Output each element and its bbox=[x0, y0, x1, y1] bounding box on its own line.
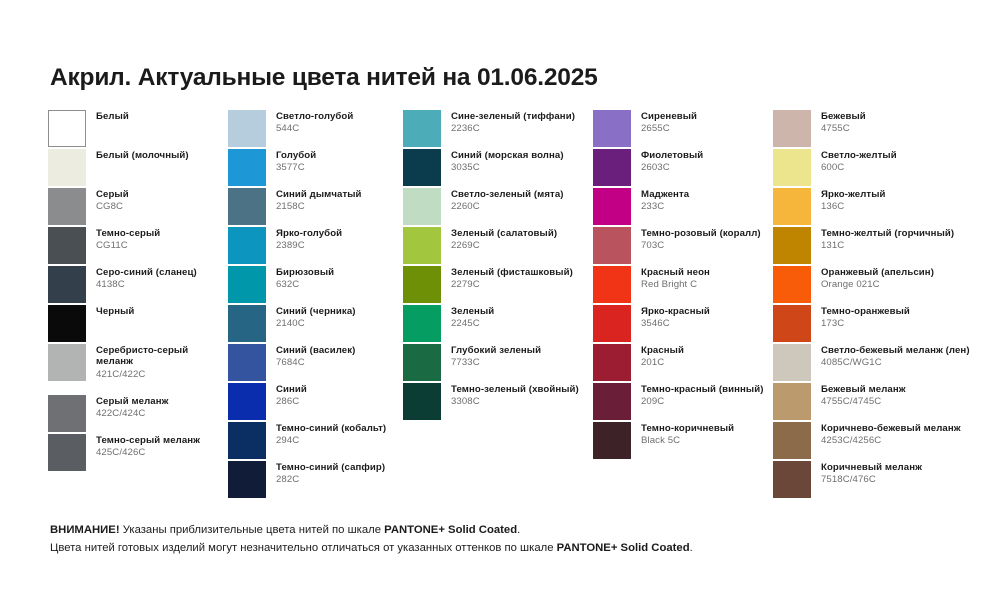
swatch-labels: Бирюзовый 632C bbox=[276, 266, 334, 291]
color-code: 544C bbox=[276, 123, 353, 134]
color-name: Синий bbox=[276, 384, 307, 395]
swatch-row[interactable]: Глубокий зеленый 7733C bbox=[403, 344, 593, 383]
color-code: 2236C bbox=[451, 123, 575, 134]
color-code: 131C bbox=[821, 240, 954, 251]
color-chip bbox=[593, 227, 631, 264]
disclaimer-line-1: ВНИМАНИЕ! Указаны приблизительные цвета … bbox=[50, 521, 970, 539]
color-name: Сиреневый bbox=[641, 111, 697, 122]
color-chip bbox=[593, 305, 631, 342]
swatch-row[interactable]: Темно-синий (сапфир) 282C bbox=[228, 461, 403, 500]
color-chip bbox=[48, 344, 86, 381]
color-name: Бирюзовый bbox=[276, 267, 334, 278]
color-name: Сине-зеленый (тиффани) bbox=[451, 111, 575, 122]
color-name: Ярко-красный bbox=[641, 306, 710, 317]
color-code: 2245C bbox=[451, 318, 494, 329]
color-chip bbox=[773, 227, 811, 264]
color-name: Темно-синий (сапфир) bbox=[276, 462, 385, 473]
disclaimer-period-2: . bbox=[690, 542, 693, 554]
color-chip bbox=[228, 149, 266, 186]
color-name: Темно-зеленый (хвойный) bbox=[451, 384, 579, 395]
color-name: Черный bbox=[96, 306, 134, 317]
color-chip bbox=[48, 227, 86, 264]
swatch-row[interactable]: Синий (василек) 7684C bbox=[228, 344, 403, 383]
swatch-labels: Синий дымчатый 2158C bbox=[276, 188, 362, 213]
color-code: 4085C/WG1C bbox=[821, 357, 970, 368]
swatch-row[interactable]: Бирюзовый 632C bbox=[228, 266, 403, 305]
color-code: 201C bbox=[641, 357, 684, 368]
disclaimer-text-1: Указаны приблизительные цвета нитей по ш… bbox=[120, 524, 385, 536]
color-code: 7684C bbox=[276, 357, 355, 368]
swatch-row[interactable]: Сине-зеленый (тиффани) 2236C bbox=[403, 110, 593, 149]
swatch-row[interactable]: Темно-серый меланж 425C/426C bbox=[48, 434, 228, 473]
color-chip bbox=[773, 461, 811, 498]
swatch-row[interactable]: Темно-зеленый (хвойный) 3308C bbox=[403, 383, 593, 422]
color-chip bbox=[773, 266, 811, 303]
color-name: Светло-голубой bbox=[276, 111, 353, 122]
color-chip bbox=[228, 344, 266, 381]
swatch-labels: Бежевый 4755C bbox=[821, 110, 866, 135]
swatch-labels: Темно-серый CG11C bbox=[96, 227, 160, 252]
color-code: 3035C bbox=[451, 162, 564, 173]
swatch-labels: Красный неон Red Bright C bbox=[641, 266, 710, 291]
swatch-row[interactable]: Бежевый 4755C bbox=[773, 110, 973, 149]
swatch-row[interactable]: Оранжевый (апельсин) Orange 021C bbox=[773, 266, 973, 305]
swatch-labels: Фиолетовый 2603C bbox=[641, 149, 703, 174]
swatch-column-greens: Сине-зеленый (тиффани) 2236C Синий (морс… bbox=[403, 110, 593, 500]
color-name: Ярко-голубой bbox=[276, 228, 342, 239]
color-name: Серый меланж bbox=[96, 396, 169, 407]
color-name: Темно-желтый (горчичный) bbox=[821, 228, 954, 239]
color-name: Глубокий зеленый bbox=[451, 345, 541, 356]
swatch-row[interactable]: Серебристо-серый меланж 421C/422C bbox=[48, 344, 228, 395]
color-chip bbox=[48, 395, 86, 432]
swatch-row[interactable]: Серый CG8C bbox=[48, 188, 228, 227]
swatch-row[interactable]: Коричнево-бежевый меланж 4253C/4256C bbox=[773, 422, 973, 461]
swatch-labels: Сиреневый 2655C bbox=[641, 110, 697, 135]
color-name: Красный неон bbox=[641, 267, 710, 278]
swatch-labels: Серый меланж 422C/424C bbox=[96, 395, 169, 420]
color-chip bbox=[228, 110, 266, 147]
color-code: 3308C bbox=[451, 396, 579, 407]
attention-label: ВНИМАНИЕ! bbox=[50, 524, 120, 536]
color-name: Ярко-желтый bbox=[821, 189, 885, 200]
swatch-labels: Темно-зеленый (хвойный) 3308C bbox=[451, 383, 579, 408]
swatch-labels: Оранжевый (апельсин) Orange 021C bbox=[821, 266, 934, 291]
disclaimer-period-1: . bbox=[517, 524, 520, 536]
swatch-row[interactable]: Синий (черника) 2140C bbox=[228, 305, 403, 344]
swatch-row[interactable]: Синий (морская волна) 3035C bbox=[403, 149, 593, 188]
color-name: Синий (морская волна) bbox=[451, 150, 564, 161]
swatch-row[interactable]: Темно-красный (винный) 209C bbox=[593, 383, 773, 422]
color-chip bbox=[228, 461, 266, 498]
swatch-row[interactable]: Маджента 233C bbox=[593, 188, 773, 227]
swatch-row[interactable]: Красный неон Red Bright C bbox=[593, 266, 773, 305]
color-chip bbox=[773, 188, 811, 225]
color-chip bbox=[593, 149, 631, 186]
color-code: 4138C bbox=[96, 279, 197, 290]
disclaimer-footer: ВНИМАНИЕ! Указаны приблизительные цвета … bbox=[50, 521, 970, 558]
color-name: Белый bbox=[96, 111, 129, 122]
swatch-labels: Серый CG8C bbox=[96, 188, 129, 213]
color-chip bbox=[48, 305, 86, 342]
swatch-labels: Коричнево-бежевый меланж 4253C/4256C bbox=[821, 422, 961, 447]
swatch-row[interactable]: Темно-синий (кобальт) 294C bbox=[228, 422, 403, 461]
swatch-labels: Серо-синий (сланец) 4138C bbox=[96, 266, 197, 291]
color-chip bbox=[228, 266, 266, 303]
swatch-labels: Темно-розовый (коралл) 703C bbox=[641, 227, 761, 252]
color-name: Темно-оранжевый bbox=[821, 306, 910, 317]
color-name: Бежевый bbox=[821, 111, 866, 122]
color-chip bbox=[403, 188, 441, 225]
color-code: 2158C bbox=[276, 201, 362, 212]
swatch-labels: Бежевый меланж 4755C/4745C bbox=[821, 383, 906, 408]
color-code: 209C bbox=[641, 396, 764, 407]
swatch-columns: Белый Белый (молочный) Серый CG8C bbox=[0, 110, 1000, 500]
swatch-labels: Серебристо-серый меланж 421C/422C bbox=[96, 344, 188, 380]
color-name: Синий (василек) bbox=[276, 345, 355, 356]
swatch-row[interactable]: Бежевый меланж 4755C/4745C bbox=[773, 383, 973, 422]
swatch-row[interactable]: Темно-желтый (горчичный) 131C bbox=[773, 227, 973, 266]
color-chart-page: Акрил. Актуальные цвета нитей на 01.06.2… bbox=[0, 0, 1000, 609]
color-name: Зеленый (салатовый) bbox=[451, 228, 557, 239]
swatch-column-warm-neutrals: Бежевый 4755C Светло-желтый 600C Ярко-же… bbox=[773, 110, 973, 500]
swatch-labels: Светло-желтый 600C bbox=[821, 149, 897, 174]
disclaimer-text-2: Цвета нитей готовых изделий могут незнач… bbox=[50, 542, 557, 554]
color-chip bbox=[48, 188, 86, 225]
swatch-row[interactable]: Сиреневый 2655C bbox=[593, 110, 773, 149]
swatch-row[interactable]: Зеленый 2245C bbox=[403, 305, 593, 344]
color-name: Серый bbox=[96, 189, 129, 200]
pantone-brand: PANTONE+ Solid Coated bbox=[384, 524, 517, 536]
color-name: Красный bbox=[641, 345, 684, 356]
color-code: 7733C bbox=[451, 357, 541, 368]
swatch-row[interactable]: Красный 201C bbox=[593, 344, 773, 383]
swatch-labels: Светло-зеленый (мята) 2260C bbox=[451, 188, 564, 213]
color-code: CG11C bbox=[96, 240, 160, 251]
swatch-labels: Глубокий зеленый 7733C bbox=[451, 344, 541, 369]
swatch-column-neutrals: Белый Белый (молочный) Серый CG8C bbox=[48, 110, 228, 500]
color-code: 2389C bbox=[276, 240, 342, 251]
color-name: Синий (черника) bbox=[276, 306, 356, 317]
color-name: Голубой bbox=[276, 150, 316, 161]
color-code: 136C bbox=[821, 201, 885, 212]
color-chip bbox=[48, 110, 86, 147]
color-code: 703C bbox=[641, 240, 761, 251]
swatch-labels: Синий 286C bbox=[276, 383, 307, 408]
color-chip bbox=[773, 383, 811, 420]
swatch-labels: Черный bbox=[96, 305, 134, 317]
swatch-row[interactable]: Светло-зеленый (мята) 2260C bbox=[403, 188, 593, 227]
color-code: Black 5C bbox=[641, 435, 734, 446]
color-code: 4755C/4745C bbox=[821, 396, 906, 407]
color-code: 4253C/4256C bbox=[821, 435, 961, 446]
swatch-row[interactable]: Синий дымчатый 2158C bbox=[228, 188, 403, 227]
color-name: Светло-зеленый (мята) bbox=[451, 189, 564, 200]
color-chip bbox=[403, 149, 441, 186]
swatch-labels: Белый (молочный) bbox=[96, 149, 189, 161]
color-chip bbox=[403, 344, 441, 381]
page-title: Акрил. Актуальные цвета нитей на 01.06.2… bbox=[50, 64, 598, 92]
pantone-brand: PANTONE+ Solid Coated bbox=[557, 542, 690, 554]
swatch-row[interactable]: Ярко-желтый 136C bbox=[773, 188, 973, 227]
swatch-row[interactable]: Голубой 3577C bbox=[228, 149, 403, 188]
swatch-row[interactable]: Темно-оранжевый 173C bbox=[773, 305, 973, 344]
color-chip bbox=[48, 266, 86, 303]
swatch-labels: Светло-бежевый меланж (лен) 4085C/WG1C bbox=[821, 344, 970, 369]
color-name: Фиолетовый bbox=[641, 150, 703, 161]
color-name: Темно-синий (кобальт) bbox=[276, 423, 386, 434]
color-code: 421C/422C bbox=[96, 369, 188, 380]
swatch-row[interactable]: Черный bbox=[48, 305, 228, 344]
color-chip bbox=[228, 188, 266, 225]
swatch-labels: Темно-синий (сапфир) 282C bbox=[276, 461, 385, 486]
swatch-row[interactable]: Коричневый меланж 7518C/476C bbox=[773, 461, 973, 500]
color-code: 233C bbox=[641, 201, 689, 212]
swatch-column-blues: Светло-голубой 544C Голубой 3577C Синий … bbox=[228, 110, 403, 500]
color-code: 3546C bbox=[641, 318, 710, 329]
color-code: 2260C bbox=[451, 201, 564, 212]
swatch-row[interactable]: Светло-бежевый меланж (лен) 4085C/WG1C bbox=[773, 344, 973, 383]
color-chip bbox=[228, 383, 266, 420]
swatch-labels: Темно-оранжевый 173C bbox=[821, 305, 910, 330]
color-chip bbox=[48, 434, 86, 471]
color-code: 425C/426C bbox=[96, 447, 200, 458]
swatch-row[interactable]: Светло-желтый 600C bbox=[773, 149, 973, 188]
swatch-labels: Зеленый (салатовый) 2269C bbox=[451, 227, 557, 252]
color-name: Темно-серый bbox=[96, 228, 160, 239]
swatch-labels: Маджента 233C bbox=[641, 188, 689, 213]
color-chip bbox=[228, 305, 266, 342]
color-code: 2655C bbox=[641, 123, 697, 134]
color-code: 4755C bbox=[821, 123, 866, 134]
color-code: Red Bright C bbox=[641, 279, 710, 290]
color-code: 286C bbox=[276, 396, 307, 407]
swatch-row[interactable]: Темно-розовый (коралл) 703C bbox=[593, 227, 773, 266]
color-name: Зеленый (фисташковый) bbox=[451, 267, 573, 278]
color-chip bbox=[403, 227, 441, 264]
color-chip bbox=[593, 383, 631, 420]
color-code: CG8C bbox=[96, 201, 129, 212]
color-code: Orange 021C bbox=[821, 279, 934, 290]
color-chip bbox=[593, 422, 631, 459]
color-name: Темно-красный (винный) bbox=[641, 384, 764, 395]
color-chip bbox=[228, 227, 266, 264]
color-chip bbox=[593, 266, 631, 303]
swatch-labels: Светло-голубой 544C bbox=[276, 110, 353, 135]
swatch-labels: Сине-зеленый (тиффани) 2236C bbox=[451, 110, 575, 135]
color-code: 173C bbox=[821, 318, 910, 329]
color-chip bbox=[593, 344, 631, 381]
color-name: Темно-коричневый bbox=[641, 423, 734, 434]
swatch-labels: Зеленый (фисташковый) 2279C bbox=[451, 266, 573, 291]
swatch-labels: Синий (василек) 7684C bbox=[276, 344, 355, 369]
color-name: Светло-желтый bbox=[821, 150, 897, 161]
color-name: Зеленый bbox=[451, 306, 494, 317]
swatch-row[interactable]: Ярко-голубой 2389C bbox=[228, 227, 403, 266]
swatch-labels: Коричневый меланж 7518C/476C bbox=[821, 461, 922, 486]
color-chip bbox=[403, 266, 441, 303]
swatch-labels: Ярко-желтый 136C bbox=[821, 188, 885, 213]
swatch-row[interactable]: Синий 286C bbox=[228, 383, 403, 422]
swatch-column-purples-reds: Сиреневый 2655C Фиолетовый 2603C Маджент… bbox=[593, 110, 773, 500]
swatch-labels: Ярко-красный 3546C bbox=[641, 305, 710, 330]
color-name: Темно-серый меланж bbox=[96, 435, 200, 446]
color-chip bbox=[773, 149, 811, 186]
swatch-row[interactable]: Зеленый (салатовый) 2269C bbox=[403, 227, 593, 266]
color-code: 600C bbox=[821, 162, 897, 173]
swatch-labels: Темно-желтый (горчичный) 131C bbox=[821, 227, 954, 252]
swatch-labels: Темно-коричневый Black 5C bbox=[641, 422, 734, 447]
swatch-labels: Красный 201C bbox=[641, 344, 684, 369]
color-code: 7518C/476C bbox=[821, 474, 922, 485]
color-name: Коричневый меланж bbox=[821, 462, 922, 473]
disclaimer-line-2: Цвета нитей готовых изделий могут незнач… bbox=[50, 539, 970, 557]
swatch-row[interactable]: Белый bbox=[48, 110, 228, 149]
color-name: Бежевый меланж bbox=[821, 384, 906, 395]
color-code: 294C bbox=[276, 435, 386, 446]
color-code: 3577C bbox=[276, 162, 316, 173]
color-code: 2279C bbox=[451, 279, 573, 290]
color-name: Светло-бежевый меланж (лен) bbox=[821, 345, 970, 356]
color-code: 422C/424C bbox=[96, 408, 169, 419]
swatch-labels: Темно-синий (кобальт) 294C bbox=[276, 422, 386, 447]
color-chip bbox=[773, 110, 811, 147]
swatch-row[interactable]: Ярко-красный 3546C bbox=[593, 305, 773, 344]
color-name: Темно-розовый (коралл) bbox=[641, 228, 761, 239]
swatch-labels: Зеленый 2245C bbox=[451, 305, 494, 330]
color-name: Оранжевый (апельсин) bbox=[821, 267, 934, 278]
swatch-row[interactable]: Светло-голубой 544C bbox=[228, 110, 403, 149]
color-code: 632C bbox=[276, 279, 334, 290]
swatch-labels: Ярко-голубой 2389C bbox=[276, 227, 342, 252]
color-chip bbox=[773, 344, 811, 381]
swatch-labels: Темно-серый меланж 425C/426C bbox=[96, 434, 200, 459]
swatch-row[interactable]: Темно-коричневый Black 5C bbox=[593, 422, 773, 461]
color-chip bbox=[48, 149, 86, 186]
swatch-labels: Голубой 3577C bbox=[276, 149, 316, 174]
color-name: Маджента bbox=[641, 189, 689, 200]
swatch-row[interactable]: Зеленый (фисташковый) 2279C bbox=[403, 266, 593, 305]
color-chip bbox=[593, 188, 631, 225]
color-chip bbox=[593, 110, 631, 147]
color-name: Серо-синий (сланец) bbox=[96, 267, 197, 278]
color-name: Синий дымчатый bbox=[276, 189, 362, 200]
swatch-row[interactable]: Серый меланж 422C/424C bbox=[48, 395, 228, 434]
color-chip bbox=[403, 110, 441, 147]
color-chip bbox=[228, 422, 266, 459]
color-code: 2140C bbox=[276, 318, 356, 329]
swatch-labels: Синий (морская волна) 3035C bbox=[451, 149, 564, 174]
swatch-row[interactable]: Темно-серый CG11C bbox=[48, 227, 228, 266]
swatch-labels: Белый bbox=[96, 110, 129, 122]
color-code: 2603C bbox=[641, 162, 703, 173]
color-chip bbox=[773, 422, 811, 459]
color-code: 2269C bbox=[451, 240, 557, 251]
color-chip bbox=[403, 383, 441, 420]
swatch-labels: Синий (черника) 2140C bbox=[276, 305, 356, 330]
color-name: Белый (молочный) bbox=[96, 150, 189, 161]
swatch-row[interactable]: Белый (молочный) bbox=[48, 149, 228, 188]
color-chip bbox=[773, 305, 811, 342]
swatch-row[interactable]: Серо-синий (сланец) 4138C bbox=[48, 266, 228, 305]
swatch-row[interactable]: Фиолетовый 2603C bbox=[593, 149, 773, 188]
color-name: Серебристо-серый меланж bbox=[96, 345, 188, 368]
color-name: Коричнево-бежевый меланж bbox=[821, 423, 961, 434]
color-chip bbox=[403, 305, 441, 342]
swatch-labels: Темно-красный (винный) 209C bbox=[641, 383, 764, 408]
color-code: 282C bbox=[276, 474, 385, 485]
